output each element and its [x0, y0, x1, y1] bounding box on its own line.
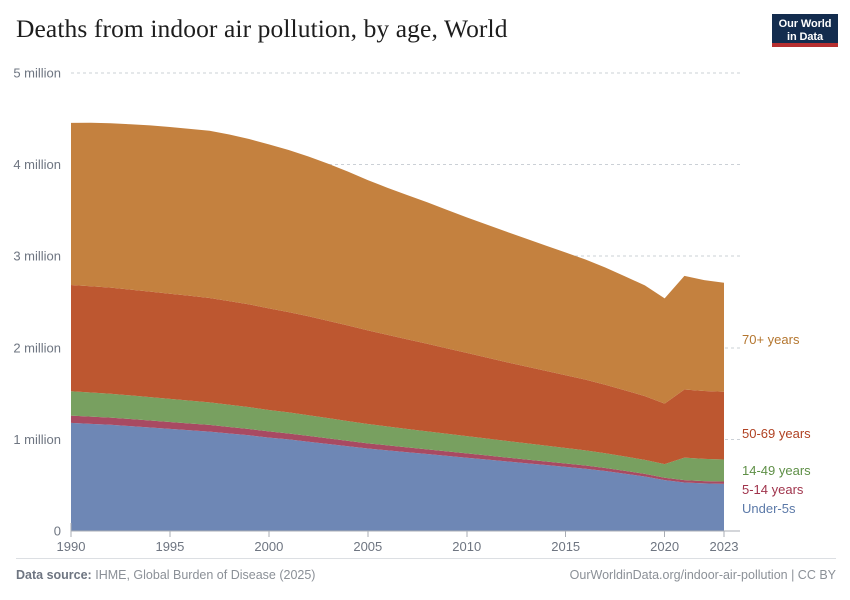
plot-area[interactable]: 01 million2 million3 million4 million5 m…	[0, 0, 850, 600]
x-axis-tick-label: 2020	[650, 539, 679, 554]
y-axis-ticks: 01 million2 million3 million4 million5 m…	[13, 66, 61, 539]
y-axis-tick-label: 3 million	[13, 249, 61, 264]
y-axis-tick-label: 4 million	[13, 157, 61, 172]
y-axis-tick-label: 1 million	[13, 432, 61, 447]
x-axis-tick-label: 2015	[551, 539, 580, 554]
series-label-5-14-years[interactable]: 5-14 years	[742, 482, 804, 497]
x-axis-tick-label: 1990	[57, 539, 86, 554]
series-label-70-years[interactable]: 70+ years	[742, 332, 800, 347]
x-axis-tick-label: 2023	[710, 539, 739, 554]
attribution-link[interactable]: OurWorldinData.org/indoor-air-pollution …	[570, 568, 836, 582]
stacked-area-chart[interactable]: 01 million2 million3 million4 million5 m…	[0, 0, 850, 600]
chart-card: Deaths from indoor air pollution, by age…	[0, 0, 850, 600]
chart-footer: Data source: IHME, Global Burden of Dise…	[16, 558, 836, 588]
area-series-group[interactable]	[71, 123, 724, 531]
x-axis-ticks: 19901995200020052010201520202023	[57, 531, 739, 554]
data-source-text: IHME, Global Burden of Disease (2025)	[95, 568, 315, 582]
x-axis-tick-label: 2010	[452, 539, 481, 554]
y-axis-tick-label: 2 million	[13, 340, 61, 355]
data-source: Data source: IHME, Global Burden of Dise…	[16, 568, 315, 582]
series-label-under-5s[interactable]: Under-5s	[742, 501, 796, 516]
x-axis-tick-label: 1995	[155, 539, 184, 554]
series-label-50-69-years[interactable]: 50-69 years	[742, 426, 811, 441]
y-axis-tick-label: 5 million	[13, 66, 61, 81]
series-labels-group[interactable]: Under-5s5-14 years14-49 years50-69 years…	[742, 332, 811, 516]
series-label-14-49-years[interactable]: 14-49 years	[742, 463, 811, 478]
data-source-prefix: Data source:	[16, 568, 92, 582]
x-axis-tick-label: 2005	[353, 539, 382, 554]
y-axis-tick-label: 0	[54, 524, 61, 539]
x-axis-tick-label: 2000	[254, 539, 283, 554]
